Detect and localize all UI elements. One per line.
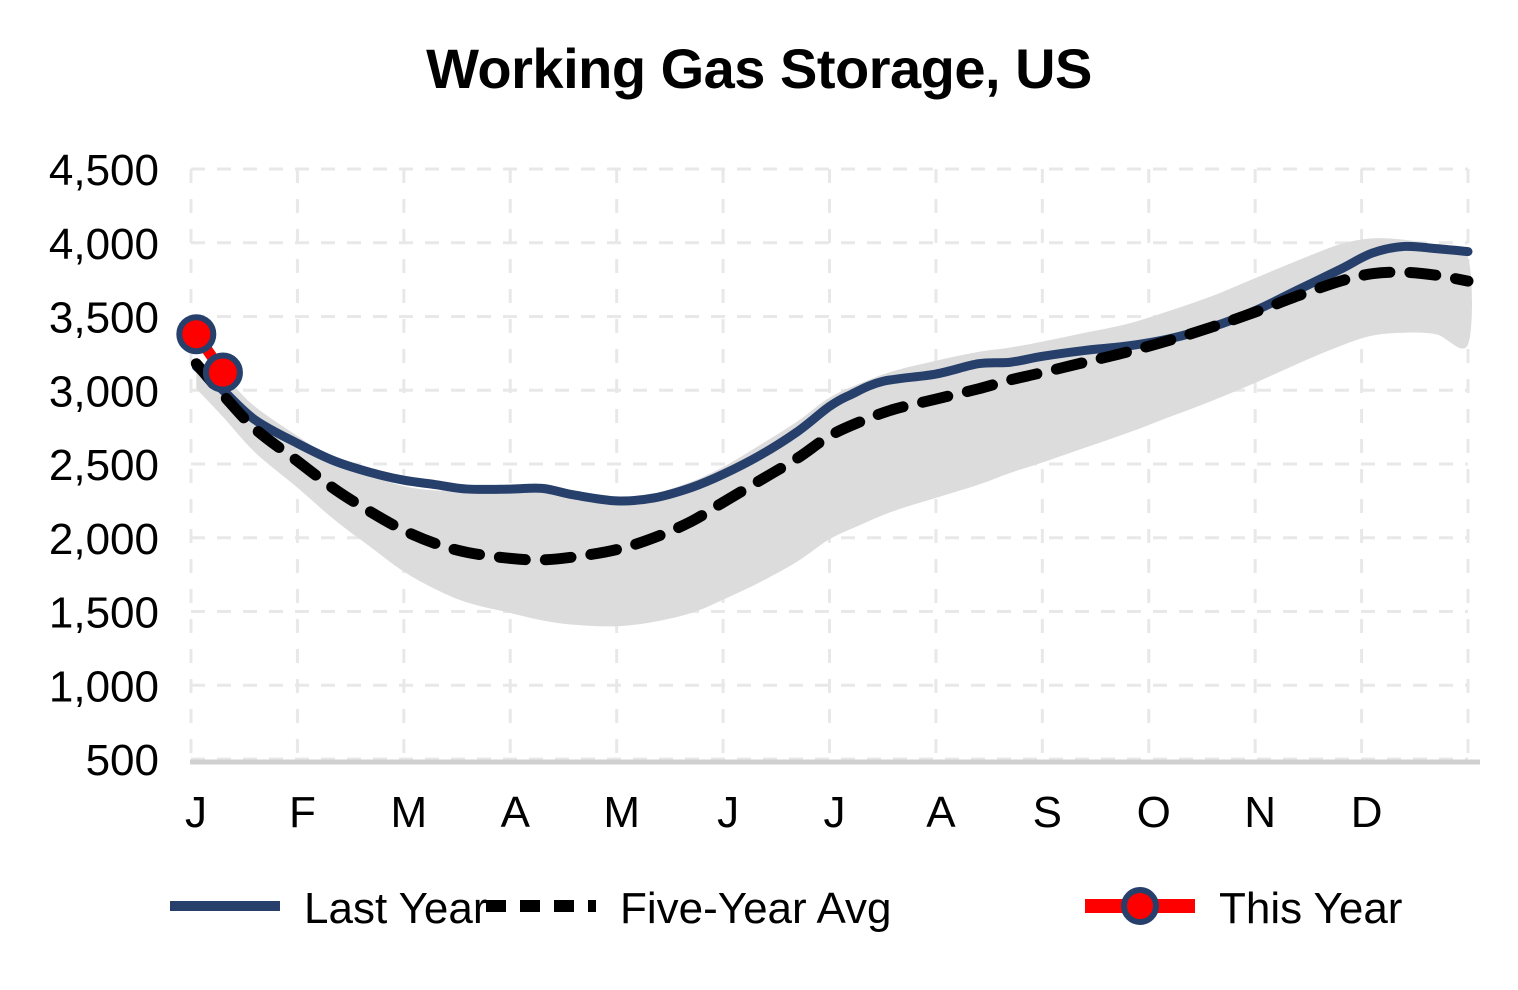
x-axis-tick-label: M (391, 788, 428, 837)
x-axis-tick-label: J (185, 788, 207, 837)
legend-label: This Year (1219, 884, 1402, 933)
x-axis-tick-labels: JFMAMJJASOND (185, 788, 1382, 837)
x-axis-tick-label: D (1351, 788, 1383, 837)
legend-item[interactable]: Last Year (170, 884, 488, 933)
legend-label: Five-Year Avg (620, 884, 892, 933)
y-axis-tick-label: 500 (86, 736, 159, 785)
y-axis-tick-label: 4,500 (49, 146, 159, 195)
y-axis-tick-label: 1,000 (49, 662, 159, 711)
y-axis-tick-labels: 4,5004,0003,5003,0002,5002,0001,5001,000… (49, 146, 159, 785)
x-axis-tick-label: A (926, 788, 956, 837)
chart-plot-area: 4,5004,0003,5003,0002,5002,0001,5001,000… (0, 0, 1518, 990)
chart-container: Working Gas Storage, US 4,5004,0003,5003… (0, 0, 1518, 990)
legend-swatch-this-year-marker (1124, 890, 1156, 922)
x-axis-tick-label: O (1137, 788, 1171, 837)
x-axis-tick-label: J (717, 788, 739, 837)
x-axis-tick-label: N (1244, 788, 1276, 837)
y-axis-tick-label: 3,000 (49, 367, 159, 416)
y-axis-tick-label: 1,500 (49, 589, 159, 638)
chart-legend: Last YearFive-Year AvgThis Year (170, 884, 1402, 933)
legend-item[interactable]: This Year (1085, 884, 1402, 933)
x-axis-tick-label: J (824, 788, 846, 837)
y-axis-tick-label: 2,000 (49, 515, 159, 564)
y-axis-tick-label: 3,500 (49, 294, 159, 343)
legend-item[interactable]: Five-Year Avg (486, 884, 892, 933)
x-axis-tick-label: S (1033, 788, 1062, 837)
legend-label: Last Year (304, 884, 488, 933)
y-axis-tick-label: 4,000 (49, 220, 159, 269)
x-axis-tick-label: F (289, 788, 316, 837)
y-axis-tick-label: 2,500 (49, 441, 159, 490)
x-axis-tick-label: A (501, 788, 531, 837)
x-axis-tick-label: M (603, 788, 640, 837)
